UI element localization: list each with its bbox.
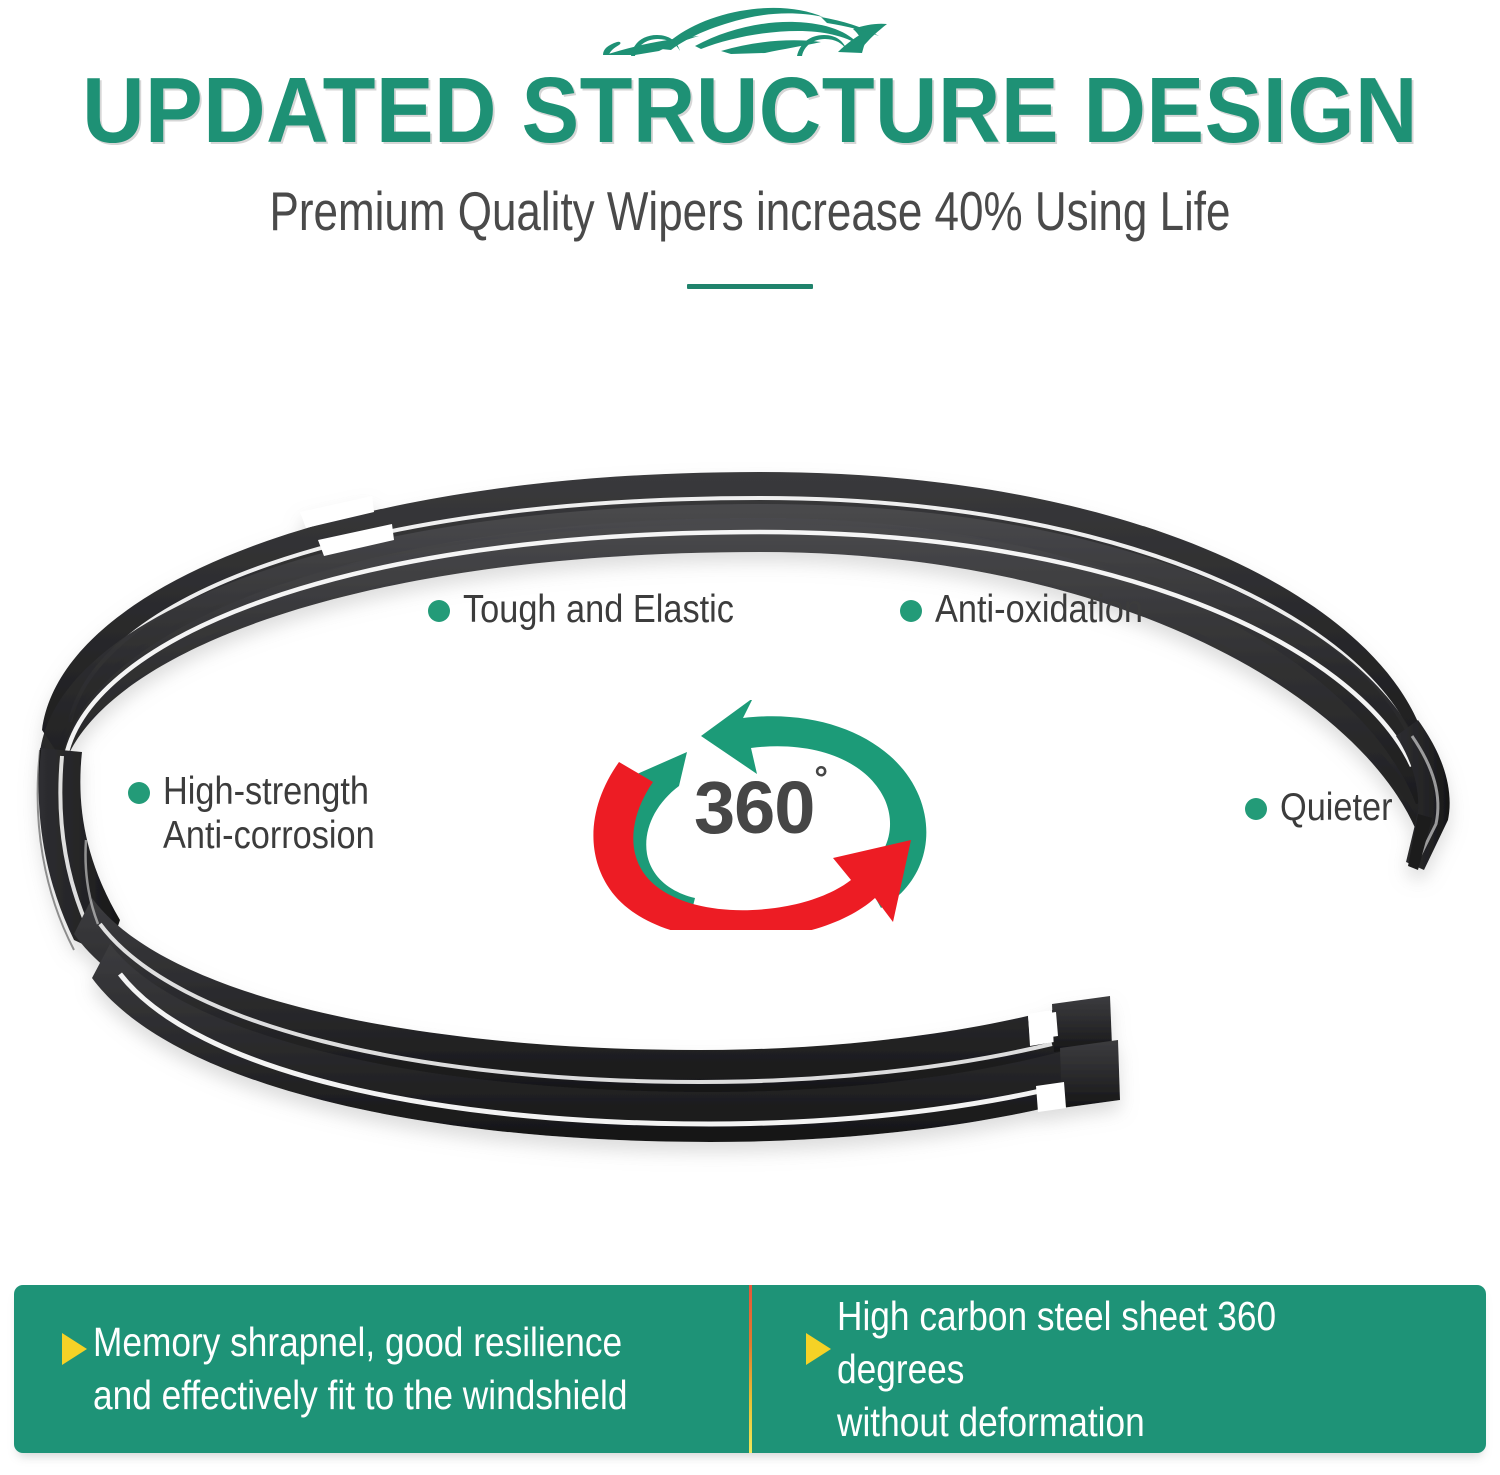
bullet-dot-icon: [1245, 798, 1267, 820]
page-subtitle: Premium Quality Wipers increase 40% Usin…: [150, 180, 1350, 242]
feature-tough-and-elastic: Tough and Elastic: [428, 588, 771, 632]
banner-text: Memory shrapnel, good resilience and eff…: [93, 1316, 627, 1422]
feature-label: Anti-oxidation: [935, 588, 1143, 632]
feature-anti-oxidation: Anti-oxidation: [900, 588, 1171, 632]
feature-high-strength-anti-corrosion: High-strength Anti-corrosion: [128, 770, 404, 858]
feature-label: High-strength Anti-corrosion: [163, 770, 375, 858]
triangle-right-icon: [806, 1333, 831, 1365]
triangle-right-icon: [62, 1333, 87, 1365]
bullet-dot-icon: [900, 600, 922, 622]
bullet-dot-icon: [428, 600, 450, 622]
feature-quieter: Quieter: [1245, 786, 1408, 830]
bullet-dot-icon: [128, 782, 150, 804]
page-title: UPDATED STRUCTURE DESIGN: [53, 62, 1448, 158]
feature-label: Quieter: [1280, 786, 1393, 830]
brand-logo: [0, 4, 1500, 64]
feature-label: Tough and Elastic: [463, 588, 734, 632]
product-infographic-page: UPDATED STRUCTURE DESIGN Premium Quality…: [0, 0, 1500, 1475]
banner-item-left: Memory shrapnel, good resilience and eff…: [14, 1285, 750, 1453]
bottom-feature-banner: Memory shrapnel, good resilience and eff…: [14, 1285, 1486, 1453]
rotation-arrows-icon: [575, 700, 955, 930]
title-divider: [687, 284, 813, 289]
banner-item-right: High carbon steel sheet 360 degrees with…: [750, 1285, 1486, 1453]
banner-text: High carbon steel sheet 360 degrees with…: [837, 1290, 1395, 1449]
badge-360-degrees: 360°: [575, 700, 955, 930]
car-silhouette-icon: [595, 5, 905, 63]
